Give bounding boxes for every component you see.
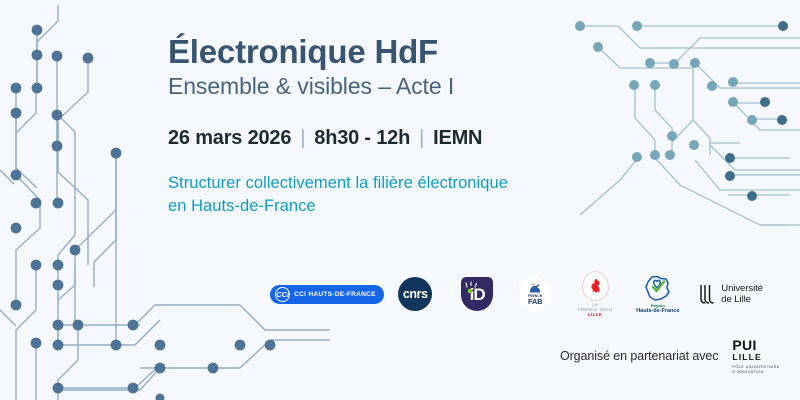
meta-separator-2: | <box>419 127 424 150</box>
udl-block: Université de Lille <box>699 283 763 306</box>
cnrs-disc: cnrs <box>398 277 432 311</box>
french-tech-pin <box>582 271 609 301</box>
event-meta: 26 mars 2026 | 8h30 - 12h | IEMN <box>168 127 638 150</box>
logo-la-french-tech-lille: LA FRENCH TECH LILLE <box>565 271 626 317</box>
event-tagline: Structurer collectivement la filière éle… <box>168 172 638 220</box>
pui-line-2: LILLE <box>732 352 779 364</box>
logo-french-fab: FRENCH FAB <box>506 276 565 313</box>
event-date: 26 mars 2026 <box>168 127 291 150</box>
meta-separator-1: | <box>300 127 305 150</box>
event-venue: IEMN <box>433 127 482 150</box>
id-accent-dot <box>468 289 472 293</box>
logo-cci-hauts-de-france: CCi CCI HAUTS-DE-FRANCE <box>272 285 382 304</box>
tagline-line-2: en Hauts-de-France <box>168 197 316 215</box>
page-subtitle: Ensemble & visibles – Acte I <box>168 73 638 101</box>
logo-universite-de-lille: Université de Lille <box>690 283 772 306</box>
pui-line-3b: D'INNOVATION <box>732 369 779 374</box>
id-shield: iD <box>461 277 493 311</box>
cci-emblem-icon: CCi <box>275 287 290 302</box>
banner-text-block: Électronique HdF Ensemble & visibles – A… <box>168 34 638 219</box>
logo-region-hauts-de-france: Région Hauts-de-France <box>626 275 691 314</box>
partnership-block: Organisé en partenariat avec PUI LILLE P… <box>560 338 780 374</box>
tagline-line-1: Structurer collectivement la filière éle… <box>168 174 508 192</box>
partner-logo-row: CCi CCI HAUTS-DE-FRANCE cnrs iD <box>272 268 772 320</box>
french-fab-hexagon: FRENCH FAB <box>519 276 552 313</box>
region-hdf-block: Région Hauts-de-France <box>636 275 679 314</box>
rooster-icon <box>528 283 543 294</box>
logo-cnrs: cnrs <box>382 277 449 311</box>
event-time: 8h30 - 12h <box>314 127 410 150</box>
partnership-label: Organisé en partenariat avec <box>560 349 718 363</box>
cci-label: CCI HAUTS-DE-FRANCE <box>294 291 376 298</box>
french-fab-main-label: FAB <box>528 298 542 306</box>
page-title: Électronique HdF <box>168 34 638 71</box>
france-map-icon <box>643 275 673 302</box>
region-hdf-label-2: Hauts-de-France <box>636 308 679 314</box>
udl-text: Université de Lille <box>721 283 763 306</box>
event-banner: Électronique HdF Ensemble & visibles – A… <box>0 0 800 400</box>
pui-line-1: PUI <box>732 338 779 352</box>
udl-mark-icon <box>699 283 716 305</box>
french-tech-block: LA FRENCH TECH LILLE <box>578 271 612 317</box>
logo-pui-lille: PUI LILLE PÔLE UNIVERSITAIRE D'INNOVATIO… <box>732 338 779 374</box>
cci-pill: CCi CCI HAUTS-DE-FRANCE <box>270 285 384 304</box>
udl-label-1: Université <box>721 283 763 294</box>
id-rays-icon <box>465 281 479 289</box>
red-rooster-icon <box>589 278 602 294</box>
french-tech-label-3: LILLE <box>588 312 602 317</box>
udl-label-2: de Lille <box>721 294 763 305</box>
logo-i-demo: iD <box>449 277 506 311</box>
